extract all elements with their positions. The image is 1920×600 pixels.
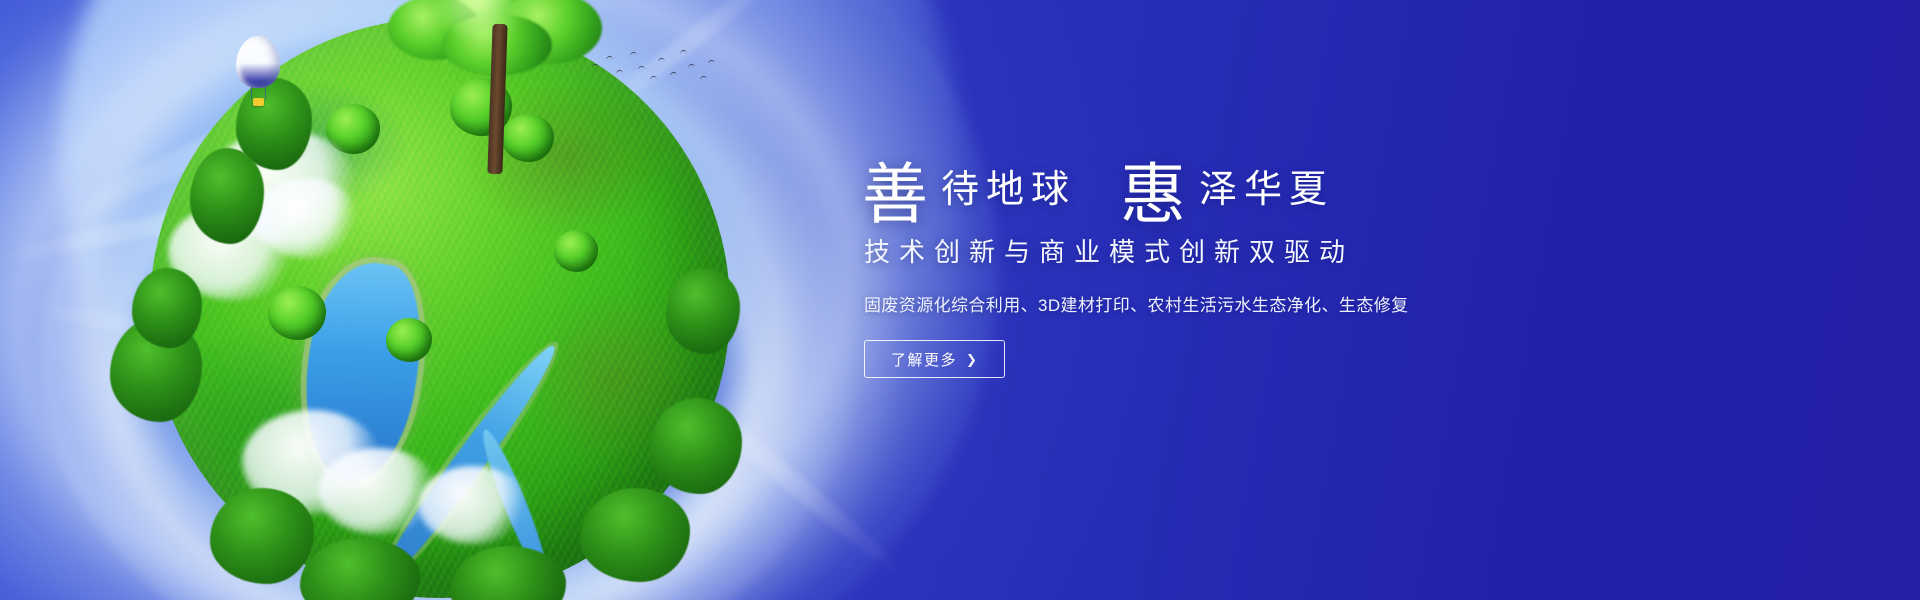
tree-cluster [554,230,598,272]
hero-copy: 善 待地球 惠 泽华夏 技术创新与商业模式创新双驱动 固废资源化综合利用、3D建… [862,128,1562,378]
rim-tree [190,148,264,244]
learn-more-label: 了解更多 [891,349,957,370]
balloon-basket-icon [253,98,264,106]
tree-cluster [386,318,432,362]
chevron-right-icon: ❯ [966,353,978,366]
flying-birds [592,46,722,94]
page-title: 善 待地球 惠 泽华夏 [862,128,1562,220]
bird-icon [616,70,623,75]
bird-icon [650,76,657,81]
bird-icon [592,64,599,69]
bird-icon [688,64,695,69]
page-description: 固废资源化综合利用、3D建材打印、农村生活污水生态净化、生态修复 [864,291,1562,316]
bird-icon [680,50,687,55]
rim-tree [580,488,690,582]
rim-tree [132,268,202,348]
headline-small-text: 待地球 [941,170,1076,208]
headline-big-char: 善 [862,165,929,226]
hot-air-balloon [236,36,284,110]
bird-icon [606,56,613,61]
bird-icon [630,52,637,57]
bird-icon [658,58,665,63]
bird-icon [708,60,715,65]
bird-icon [670,72,677,77]
rim-tree [650,398,742,494]
cloud-puff [318,448,438,534]
bird-icon [638,66,645,71]
learn-more-button[interactable]: 了解更多 ❯ [864,340,1005,378]
headline-small-text: 泽华夏 [1199,170,1334,208]
headline-big-char: 惠 [1120,165,1187,226]
bird-icon [700,76,707,81]
cloud-puff [254,178,358,258]
balloon-envelope-icon [236,36,280,88]
page-subtitle: 技术创新与商业模式创新双驱动 [864,232,1562,269]
hero-banner: 善 待地球 惠 泽华夏 技术创新与商业模式创新双驱动 固废资源化综合利用、3D建… [0,0,1920,600]
headline-phrase-one: 善 待地球 [862,159,1076,220]
rim-tree [666,268,740,354]
headline-phrase-two: 惠 泽华夏 [1120,159,1334,220]
rim-tree [210,488,314,584]
tree-cluster [268,286,326,340]
cloud-puff [418,466,528,544]
